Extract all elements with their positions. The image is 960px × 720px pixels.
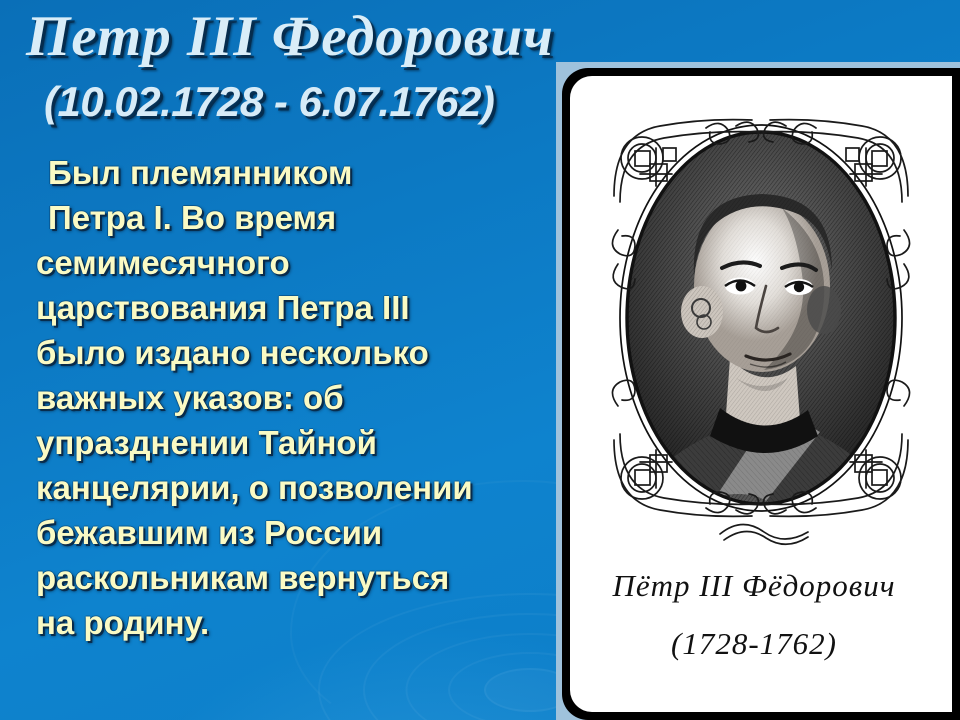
slide-body-text: Был племянником Петра I. Во время семиме… — [36, 150, 556, 645]
body-line: бежавшим из России — [36, 510, 556, 555]
slide-title: Петр III Федорович — [26, 6, 554, 68]
body-line: царствования Петра III — [36, 285, 556, 330]
body-line: Петра I. Во время — [36, 195, 556, 240]
portrait-card: Пётр III Фёдорович (1728-1762) — [570, 76, 952, 712]
body-line: на родину. — [36, 600, 556, 645]
body-line: Был племянником — [36, 150, 556, 195]
body-line: семимесячного — [36, 240, 556, 285]
slide-subtitle-dates: (10.02.1728 - 6.07.1762) — [44, 78, 494, 126]
body-line: важных указов: об — [36, 375, 556, 420]
portrait-caption-years: (1728-1762) — [570, 626, 938, 662]
body-line: канцелярии, о позволении — [36, 465, 556, 510]
portrait-engraving — [570, 90, 952, 560]
portrait-caption: Пётр III Фёдорович (1728-1762) — [570, 568, 938, 662]
slide-canvas: Петр III Федорович (10.02.1728 - 6.07.17… — [0, 0, 960, 720]
body-line: было издано несколько — [36, 330, 556, 375]
body-line: упразднении Тайной — [36, 420, 556, 465]
body-line: раскольникам вернуться — [36, 555, 556, 600]
portrait-caption-name: Пётр III Фёдорович — [570, 568, 938, 604]
